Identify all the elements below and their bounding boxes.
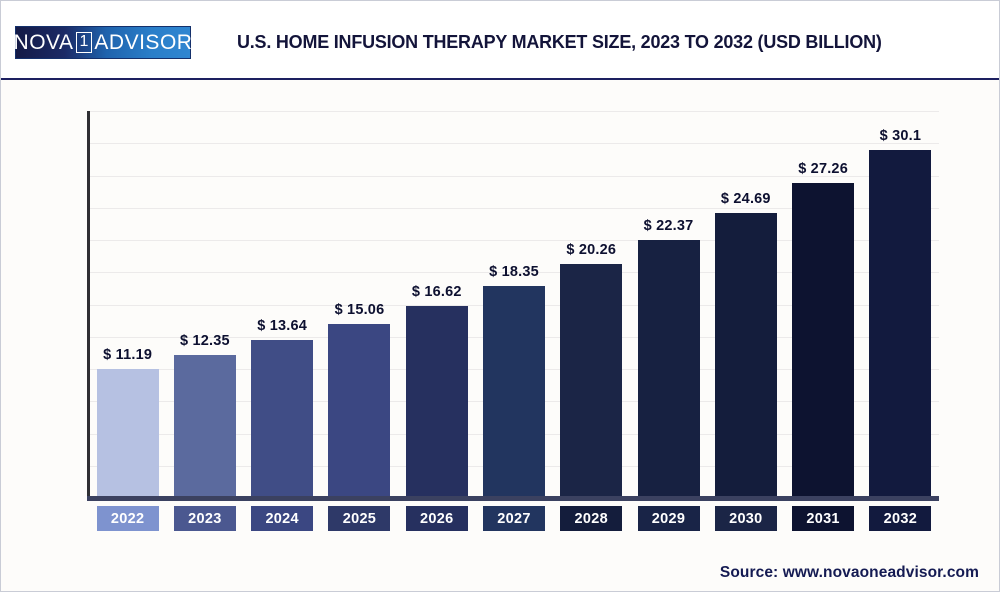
bar — [97, 369, 159, 498]
gridline — [89, 143, 939, 144]
bar — [560, 264, 622, 498]
novaoneadvisor-logo: NOVA1ADVISOR — [15, 26, 191, 59]
bar — [715, 213, 777, 498]
x-tick-2031: 2031 — [792, 506, 854, 531]
bar — [483, 286, 545, 498]
x-tick-2027: 2027 — [483, 506, 545, 531]
bar-value-label: $ 20.26 — [541, 242, 641, 258]
header-bar: NOVA1ADVISOR U.S. HOME INFUSION THERAPY … — [1, 1, 1000, 80]
bar — [174, 355, 236, 498]
x-axis-tick-labels: 2022202320242025202620272028202920302031… — [89, 506, 939, 532]
logo-text-nova: NOVA — [14, 32, 74, 53]
x-tick-2022: 2022 — [97, 506, 159, 531]
chart-canvas: $ 11.19$ 12.35$ 13.64$ 15.06$ 16.62$ 18.… — [1, 80, 1000, 592]
bar — [251, 340, 313, 498]
bar-value-label: $ 27.26 — [773, 161, 873, 177]
x-tick-2024: 2024 — [251, 506, 313, 531]
bar-value-label: $ 15.06 — [309, 302, 409, 318]
x-tick-2028: 2028 — [560, 506, 622, 531]
x-tick-2032: 2032 — [869, 506, 931, 531]
bar-value-label: $ 12.35 — [155, 333, 255, 349]
bar — [406, 306, 468, 498]
x-tick-2026: 2026 — [406, 506, 468, 531]
bar-value-label: $ 24.69 — [696, 191, 796, 207]
logo-text-advisor: ADVISOR — [94, 32, 192, 53]
bar-value-label: $ 22.37 — [619, 218, 719, 234]
x-tick-2030: 2030 — [715, 506, 777, 531]
bar — [792, 183, 854, 498]
x-axis-line — [87, 496, 939, 501]
bar — [869, 150, 931, 498]
x-tick-2029: 2029 — [638, 506, 700, 531]
x-tick-2025: 2025 — [328, 506, 390, 531]
bar — [638, 240, 700, 498]
logo-boxed-one: 1 — [76, 32, 93, 53]
bar-value-label: $ 30.1 — [850, 128, 950, 144]
y-axis-line — [87, 111, 90, 500]
plot-area: $ 11.19$ 12.35$ 13.64$ 15.06$ 16.62$ 18.… — [89, 111, 939, 498]
x-tick-2023: 2023 — [174, 506, 236, 531]
gridline — [89, 111, 939, 112]
chart-infographic: NOVA1ADVISOR U.S. HOME INFUSION THERAPY … — [0, 0, 1000, 592]
page-title: U.S. HOME INFUSION THERAPY MARKET SIZE, … — [237, 31, 916, 53]
bar-value-label: $ 13.64 — [232, 318, 332, 334]
bar — [328, 324, 390, 498]
source-attribution: Source: www.novaoneadvisor.com — [720, 564, 979, 582]
bar-value-label: $ 18.35 — [464, 264, 564, 280]
bar-value-label: $ 16.62 — [387, 284, 487, 300]
